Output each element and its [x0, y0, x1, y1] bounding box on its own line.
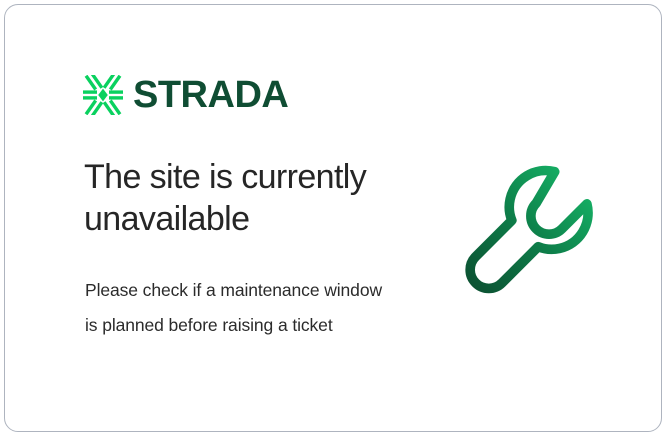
wrench-icon: [457, 157, 619, 319]
brand-wordmark: STRADA: [133, 76, 288, 114]
strada-asterisk-icon: [83, 75, 123, 115]
page-description: Please check if a maintenance window is …: [85, 273, 395, 343]
brand-logo: STRADA: [83, 75, 288, 115]
status-card: STRADA The site is currently unavailable…: [4, 4, 662, 432]
error-page: STRADA The site is currently unavailable…: [0, 0, 666, 436]
page-title: The site is currently unavailable: [84, 157, 424, 241]
